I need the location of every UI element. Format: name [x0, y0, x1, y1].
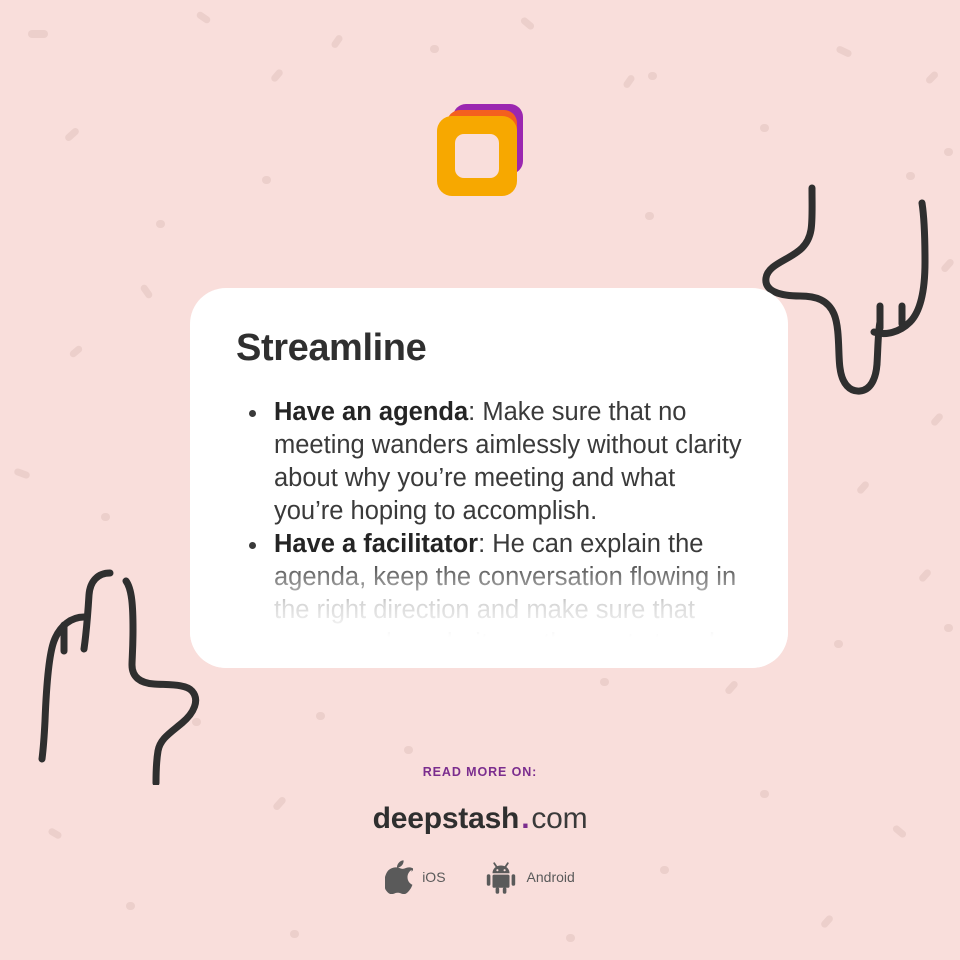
confetti-speck	[925, 70, 940, 85]
wordmark-brand: deepstash	[373, 802, 520, 835]
logo-container	[0, 100, 960, 200]
confetti-speck	[835, 45, 852, 58]
list-item: Have an agenda: Make sure that no meetin…	[236, 396, 746, 528]
confetti-speck	[645, 212, 654, 220]
confetti-speck	[101, 513, 110, 521]
logo-center-cutout	[455, 134, 499, 178]
confetti-speck	[192, 718, 201, 726]
confetti-speck	[28, 30, 48, 38]
store-badges: iOS	[0, 860, 960, 894]
confetti-speck	[13, 467, 30, 479]
android-label: Android	[527, 869, 575, 885]
footer: READ MORE ON: deepstash.com iOS	[0, 765, 960, 894]
confetti-speck	[330, 34, 344, 49]
bullet-lead: Have an agenda	[274, 398, 468, 426]
confetti-speck	[520, 16, 536, 31]
wordmark-dot: .	[519, 802, 531, 835]
read-more-label: READ MORE ON:	[0, 765, 960, 779]
confetti-speck	[648, 72, 657, 80]
confetti-speck	[270, 68, 284, 83]
ios-label: iOS	[422, 869, 445, 885]
hand-outline-icon-bottom-left	[20, 555, 210, 790]
page-title: Streamline	[236, 328, 746, 370]
confetti-speck	[820, 914, 835, 929]
confetti-speck	[930, 412, 945, 427]
confetti-speck	[944, 624, 953, 632]
confetti-speck	[404, 746, 413, 754]
confetti-speck	[290, 930, 299, 938]
confetti-speck	[940, 258, 955, 274]
confetti-speck	[68, 344, 83, 358]
content-card: Streamline Have an agenda: Make sure tha…	[190, 288, 788, 668]
confetti-speck	[566, 934, 575, 942]
confetti-speck	[724, 680, 739, 696]
confetti-speck	[126, 902, 135, 910]
confetti-speck	[139, 283, 153, 299]
android-icon	[484, 860, 518, 894]
confetti-speck	[316, 712, 325, 720]
deepstash-wordmark[interactable]: deepstash.com	[0, 802, 960, 836]
wordmark-tld: com	[531, 802, 587, 835]
list-item: Have a facilitator: He can explain the a…	[236, 528, 746, 660]
card-inner: Streamline Have an agenda: Make sure tha…	[190, 288, 788, 660]
confetti-speck	[918, 568, 933, 583]
deepstash-logo-icon	[437, 104, 523, 196]
idea-bullet-list: Have an agenda: Make sure that no meetin…	[236, 396, 746, 660]
confetti-speck	[834, 640, 843, 648]
bullet-lead: Have a facilitator	[274, 530, 478, 558]
apple-icon	[385, 860, 413, 894]
confetti-speck	[430, 45, 439, 53]
confetti-speck	[600, 678, 609, 686]
ios-store-badge[interactable]: iOS	[385, 860, 445, 894]
confetti-speck	[156, 220, 165, 228]
confetti-speck	[622, 74, 636, 89]
confetti-speck	[856, 480, 871, 495]
android-store-badge[interactable]: Android	[484, 860, 575, 894]
confetti-speck	[195, 10, 211, 24]
